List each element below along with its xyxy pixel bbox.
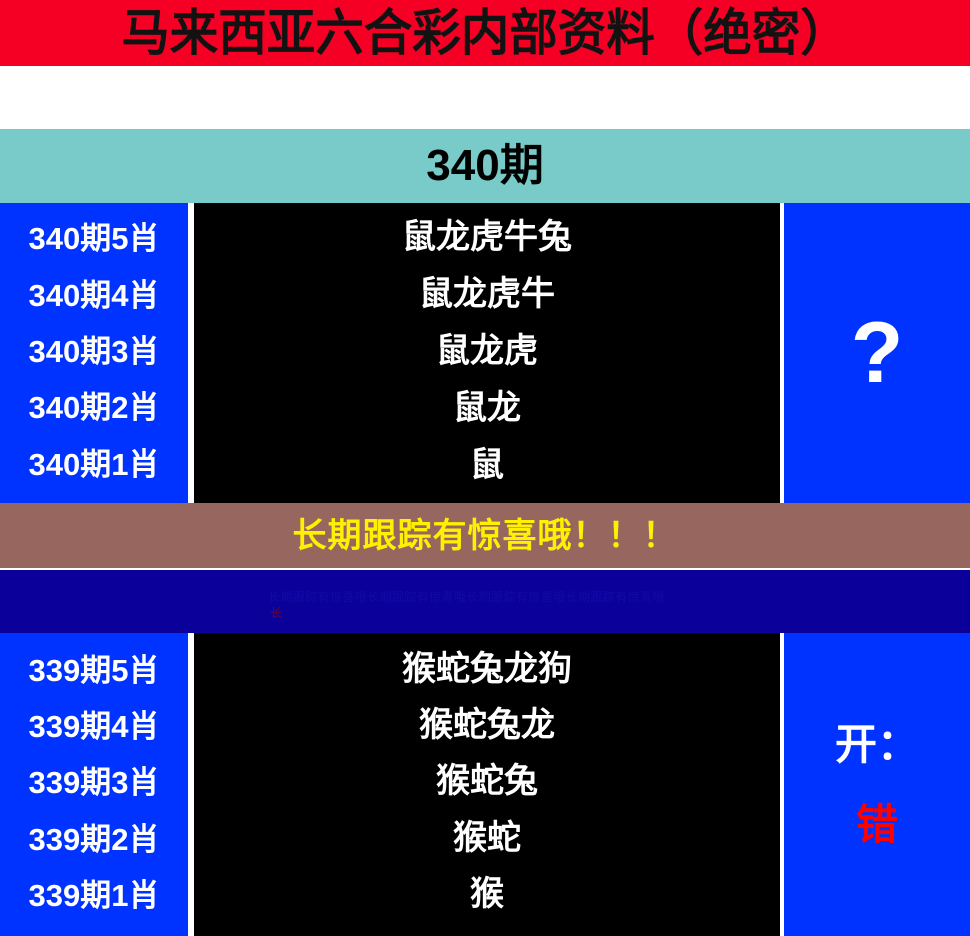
row-picks: 猴蛇兔龙 — [419, 705, 555, 745]
open-result-value: 错 — [856, 801, 898, 849]
header-banner: 马来西亚六合彩内部资料（绝密） — [0, 0, 970, 66]
row-label: 339期4肖 — [29, 709, 160, 745]
period-340-table: 340期5肖 340期4肖 340期3肖 340期2肖 340期1肖 鼠龙虎牛兔… — [0, 203, 970, 503]
open-result-label: 开： — [835, 721, 919, 769]
row-picks: 猴 — [470, 874, 504, 914]
row-picks: 鼠 — [470, 445, 504, 485]
question-mark-icon: ? — [851, 308, 904, 398]
row-label: 339期3肖 — [29, 765, 160, 801]
current-period-bar: 340期 — [0, 129, 970, 203]
row-picks: 鼠龙虎牛兔 — [402, 217, 572, 257]
row-picks: 鼠龙虎 — [436, 331, 538, 371]
navy-watermark-strip: 长期跟踪有惊喜哦长期跟踪有惊喜哦长期跟踪有惊喜哦长期跟踪有惊喜哦 长 — [0, 570, 970, 633]
row-label: 339期1肖 — [29, 878, 160, 914]
row-label: 339期5肖 — [29, 653, 160, 689]
promo-banner: 长期跟踪有惊喜哦！！！ — [0, 503, 970, 568]
row-picks: 猴蛇兔 — [436, 761, 538, 801]
period-339-table: 339期5肖 339期4肖 339期3肖 339期2肖 339期1肖 猴蛇兔龙狗… — [0, 633, 970, 936]
page-title: 马来西亚六合彩内部资料（绝密） — [121, 3, 849, 63]
row-label: 340期1肖 — [29, 447, 160, 483]
row-picks: 鼠龙 — [453, 388, 521, 428]
period-340-result-column: ? — [784, 203, 970, 503]
period-339-picks-column: 猴蛇兔龙狗 猴蛇兔龙 猴蛇兔 猴蛇 猴 — [194, 633, 780, 936]
row-picks: 鼠龙虎牛 — [419, 274, 555, 314]
period-339-label-column: 339期5肖 339期4肖 339期3肖 339期2肖 339期1肖 — [0, 633, 188, 936]
lottery-info-page: 马来西亚六合彩内部资料（绝密） 340期 340期5肖 340期4肖 340期3… — [0, 0, 970, 936]
faint-watermark-text-primary: 长期跟踪有惊喜哦长期跟踪有惊喜哦长期跟踪有惊喜哦长期跟踪有惊喜哦 — [268, 590, 665, 604]
row-label: 340期5肖 — [29, 221, 160, 257]
period-340-label-column: 340期5肖 340期4肖 340期3肖 340期2肖 340期1肖 — [0, 203, 188, 503]
header-spacer — [0, 66, 970, 129]
period-339-result-column: 开： 错 — [784, 633, 970, 936]
row-label: 340期2肖 — [29, 390, 160, 426]
faint-watermark-text-secondary: 长 — [270, 606, 282, 620]
current-period-label: 340期 — [426, 141, 543, 191]
row-label: 340期4肖 — [29, 278, 160, 314]
row-label: 340期3肖 — [29, 334, 160, 370]
row-picks: 猴蛇兔龙狗 — [402, 649, 572, 689]
row-label: 339期2肖 — [29, 822, 160, 858]
period-340-picks-column: 鼠龙虎牛兔 鼠龙虎牛 鼠龙虎 鼠龙 鼠 — [194, 203, 780, 503]
row-picks: 猴蛇 — [453, 818, 521, 858]
promo-text: 长期跟踪有惊喜哦！！！ — [293, 516, 678, 556]
